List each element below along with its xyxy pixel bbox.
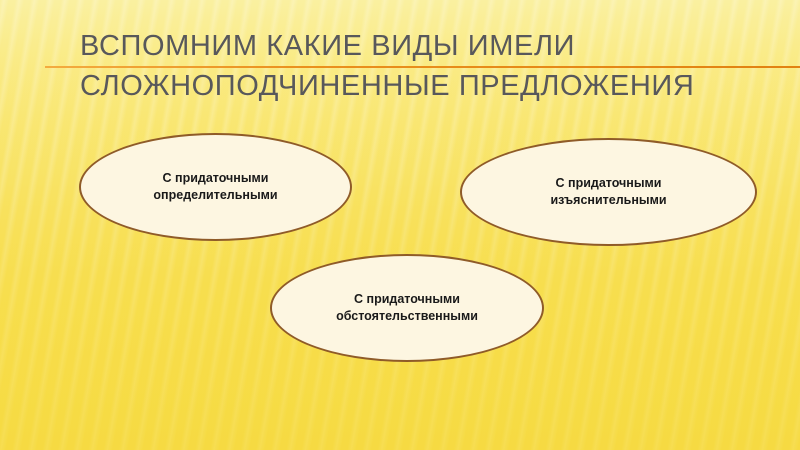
diagram-node-label: С придаточными определительными <box>127 170 303 204</box>
diagram-node-subordinate-adverbial[interactable]: С придаточными обстоятельственными <box>270 254 544 362</box>
diagram-node-subordinate-explanatory[interactable]: С придаточными изъяснительными <box>460 138 757 246</box>
diagram-node-label: С придаточными изъяснительными <box>524 175 692 209</box>
diagram-node-label: С придаточными обстоятельственными <box>310 291 504 325</box>
diagram-node-subordinate-attributive[interactable]: С придаточными определительными <box>79 133 352 241</box>
title-divider-rule <box>45 66 800 68</box>
slide-canvas: Вспомним какие виды имели сложноподчинен… <box>0 0 800 450</box>
